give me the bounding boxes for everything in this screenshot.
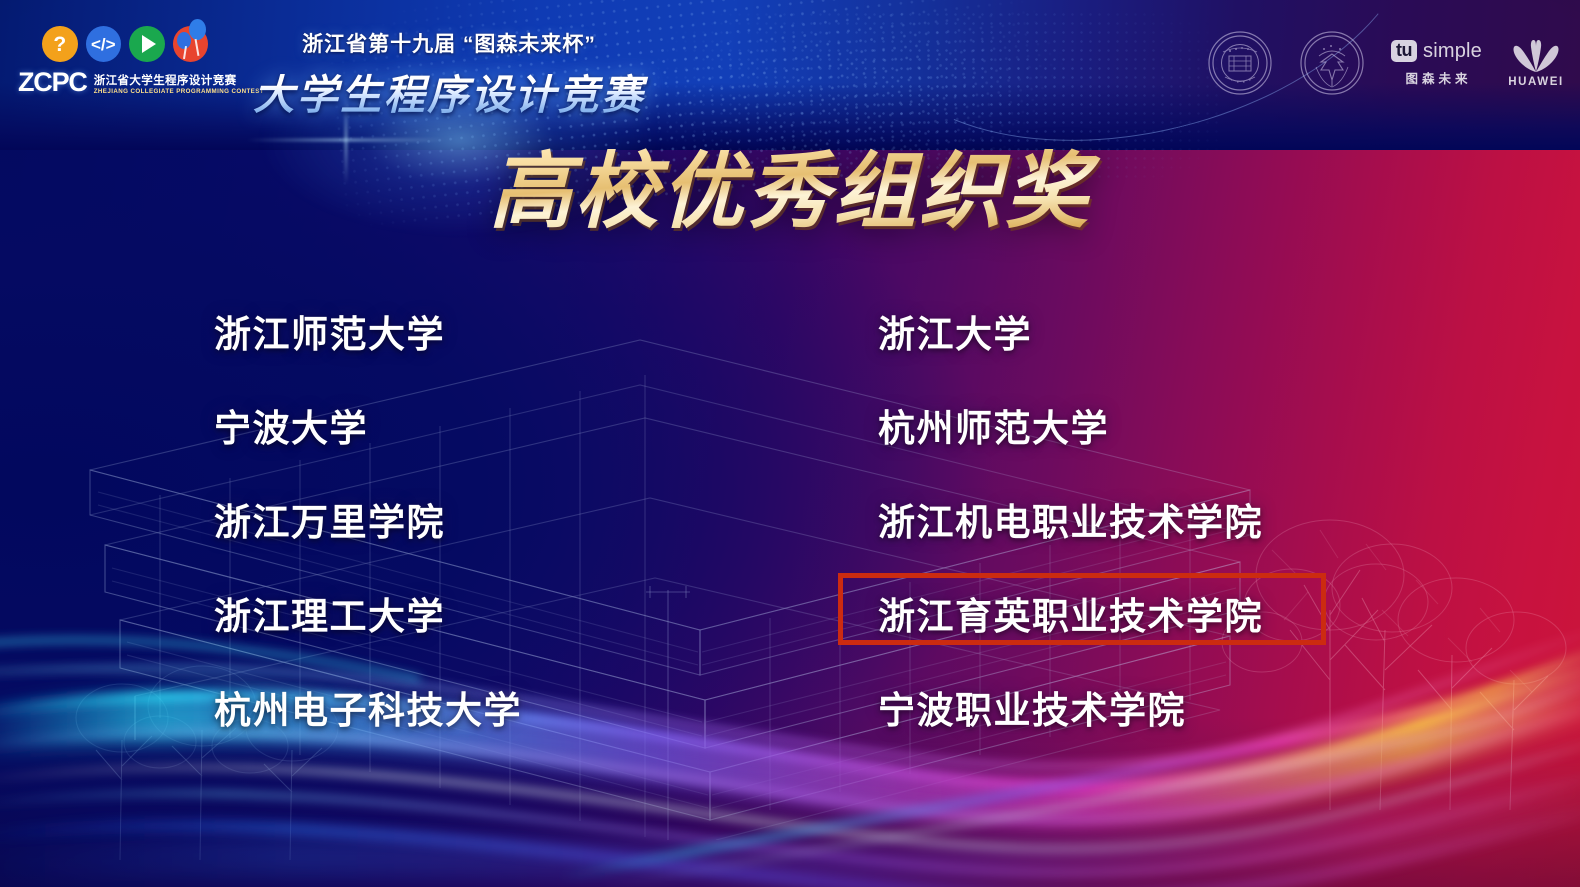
vignette	[0, 0, 1580, 887]
award-slide: ? </> ZCPC 浙江省大学生程序设计竞赛	[0, 0, 1580, 887]
